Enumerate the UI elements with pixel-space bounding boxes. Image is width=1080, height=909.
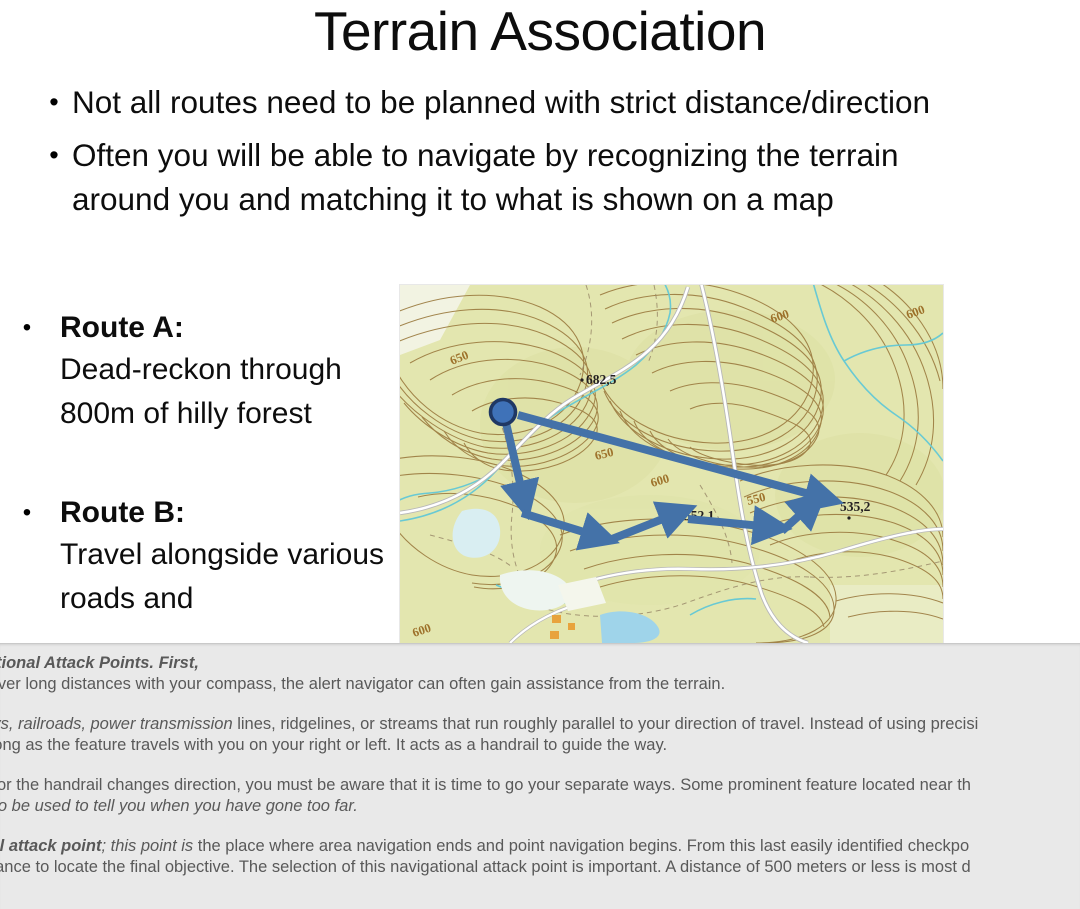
notes-paragraph: and Navigational Attack Points. First,th… [0, 653, 1080, 694]
route-item-a: • Route A: Dead-reckon through 800m of h… [0, 308, 398, 436]
route-a-description: Dead-reckon through 800m of hilly forest [60, 348, 390, 436]
notes-text-run: arks for as long as the feature travels … [0, 736, 667, 754]
notes-text-run: navigational attack point [0, 837, 101, 855]
route-body: Route A: Dead-reckon through 800m of hil… [42, 308, 398, 436]
map-svg: 650 650 600 600 600 550 600 682,5 552,1 … [400, 285, 943, 643]
notes-line: arks for as long as the feature travels … [0, 735, 1080, 756]
bullet-text: Often you will be able to navigate by re… [72, 133, 1010, 221]
notes-line: and Navigational Attack Points. First, [0, 653, 1080, 674]
route-start-marker [491, 400, 516, 425]
notes-line: re; it can also be used to tell you when… [0, 796, 1080, 817]
spot-elevation-682: 682,5 [586, 372, 617, 387]
route-b-heading: Route B: [60, 493, 398, 533]
notes-text-run: the place where area navigation ends and… [193, 837, 969, 855]
notes-text-run: r your route or the handrail changes dir… [0, 776, 971, 794]
notes-paragraph: navigational attack point; this point is… [0, 836, 1080, 877]
topographic-map-image: 650 650 600 600 600 550 600 682,5 552,1 … [400, 285, 943, 643]
notes-text-run: and Navigational Attack Points. First, [0, 654, 199, 672]
route-a-heading: Route A: [60, 308, 398, 348]
route-b-description: Travel alongside various roads and [60, 533, 390, 621]
notes-line: thout error over long distances with you… [0, 674, 1080, 695]
list-item: • Often you will be able to navigate by … [0, 133, 1010, 221]
bullet-icon: • [36, 80, 72, 124]
page-title: Terrain Association [0, 0, 1080, 65]
notes-paragraph: s or highways, railroads, power transmis… [0, 714, 1080, 755]
slide-canvas: Terrain Association • Not all routes nee… [0, 0, 1080, 643]
notes-line: s or highways, railroads, power transmis… [0, 714, 1080, 735]
bullet-text: Not all routes need to be planned with s… [72, 80, 1010, 124]
notes-text-run: thout error over long distances with you… [0, 675, 725, 693]
top-bullet-list: • Not all routes need to be planned with… [0, 80, 1010, 230]
notes-text-run: ; this point is [101, 837, 193, 855]
notes-line: r your route or the handrail changes dir… [0, 775, 1080, 796]
route-body: Route B: Travel alongside various roads … [42, 493, 398, 621]
route-list: • Route A: Dead-reckon through 800m of h… [0, 308, 398, 621]
notes-line: pecified distance to locate the final ob… [0, 857, 1080, 878]
route-item-b: • Route B: Travel alongside various road… [0, 493, 398, 621]
speaker-notes-content: and Navigational Attack Points. First,th… [0, 653, 1080, 897]
list-item: • Not all routes need to be planned with… [0, 80, 1010, 124]
notes-text-run: lines, ridgelines, or streams that run r… [233, 715, 979, 733]
notes-line: navigational attack point; this point is… [0, 836, 1080, 857]
notes-text-run: pecified distance to locate the final ob… [0, 858, 971, 876]
notes-text-run: ; it can also be used to tell you when y… [0, 797, 358, 815]
speaker-notes-pane[interactable]: and Navigational Attack Points. First,th… [0, 643, 1080, 909]
bullet-icon: • [36, 133, 72, 177]
spot-elevation-535: 535,2 [840, 499, 871, 514]
notes-paragraph: r your route or the handrail changes dir… [0, 775, 1080, 816]
bullet-icon: • [12, 493, 42, 533]
notes-text-run: or highways, railroads, power transmissi… [0, 715, 233, 733]
bullet-icon: • [12, 308, 42, 348]
